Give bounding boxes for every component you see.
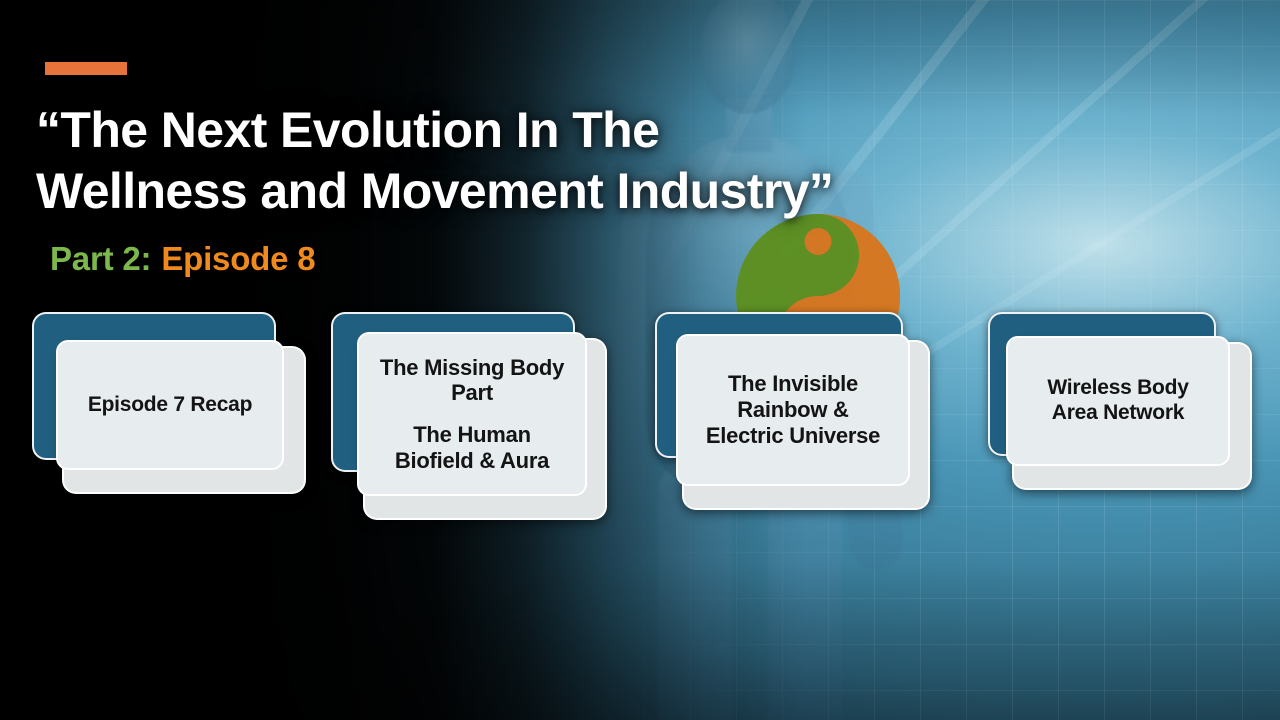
card-wireless-body-area-network[interactable]: Wireless Body Area Network [988, 312, 1234, 464]
card-inner-panel: The Missing Body Part The Human Biofield… [357, 332, 587, 496]
card-label: The Invisible Rainbow & Electric Univers… [706, 371, 880, 448]
card-front-panel: The Missing Body Part The Human Biofield… [363, 338, 607, 520]
card-episode-7-recap[interactable]: Episode 7 Recap [32, 312, 278, 464]
presentation-slide: “The Next Evolution In The Wellness and … [0, 0, 1280, 720]
card-front-panel: Wireless Body Area Network [1012, 342, 1252, 490]
card-front-panel: The Invisible Rainbow & Electric Univers… [682, 340, 930, 510]
card-missing-body-part[interactable]: The Missing Body Part The Human Biofield… [331, 312, 577, 464]
card-row: Episode 7 Recap The Missing Body Part Th… [0, 0, 1280, 720]
card-label-secondary: The Human Biofield & Aura [395, 422, 549, 473]
card-front-panel: Episode 7 Recap [62, 346, 306, 494]
card-label: Wireless Body Area Network [1047, 376, 1188, 425]
card-inner-panel: The Invisible Rainbow & Electric Univers… [676, 334, 910, 486]
card-label: The Missing Body Part [380, 355, 564, 406]
card-label: Episode 7 Recap [88, 393, 252, 418]
card-inner-panel: Wireless Body Area Network [1006, 336, 1230, 466]
card-invisible-rainbow[interactable]: The Invisible Rainbow & Electric Univers… [655, 312, 901, 464]
card-inner-panel: Episode 7 Recap [56, 340, 284, 470]
